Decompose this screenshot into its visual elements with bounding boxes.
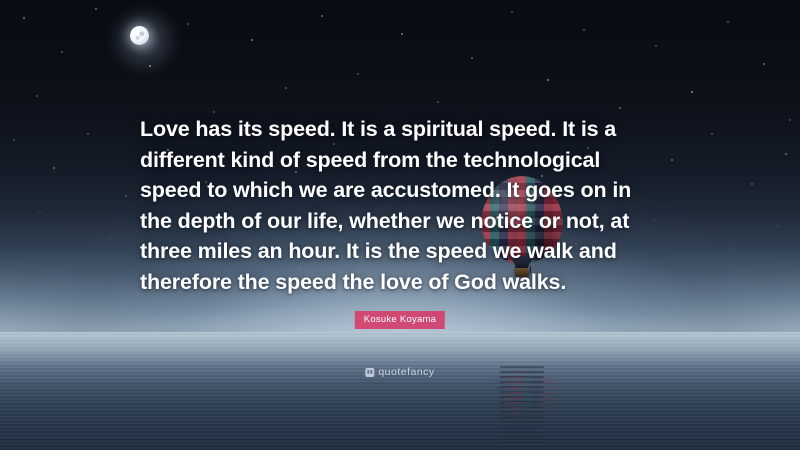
moon-icon [130,26,149,45]
quotefancy-watermark[interactable]: quotefancy [365,366,434,378]
quote-wallpaper: Love has its speed. It is a spiritual sp… [0,0,800,450]
balloon-reflection [478,372,570,446]
quote-mark-icon [365,368,374,377]
quote-text: Love has its speed. It is a spiritual sp… [140,114,664,297]
watermark-brand: quotefancy [378,366,434,378]
water-surface [0,332,800,450]
author-badge: Kosuke Koyama [355,311,445,329]
